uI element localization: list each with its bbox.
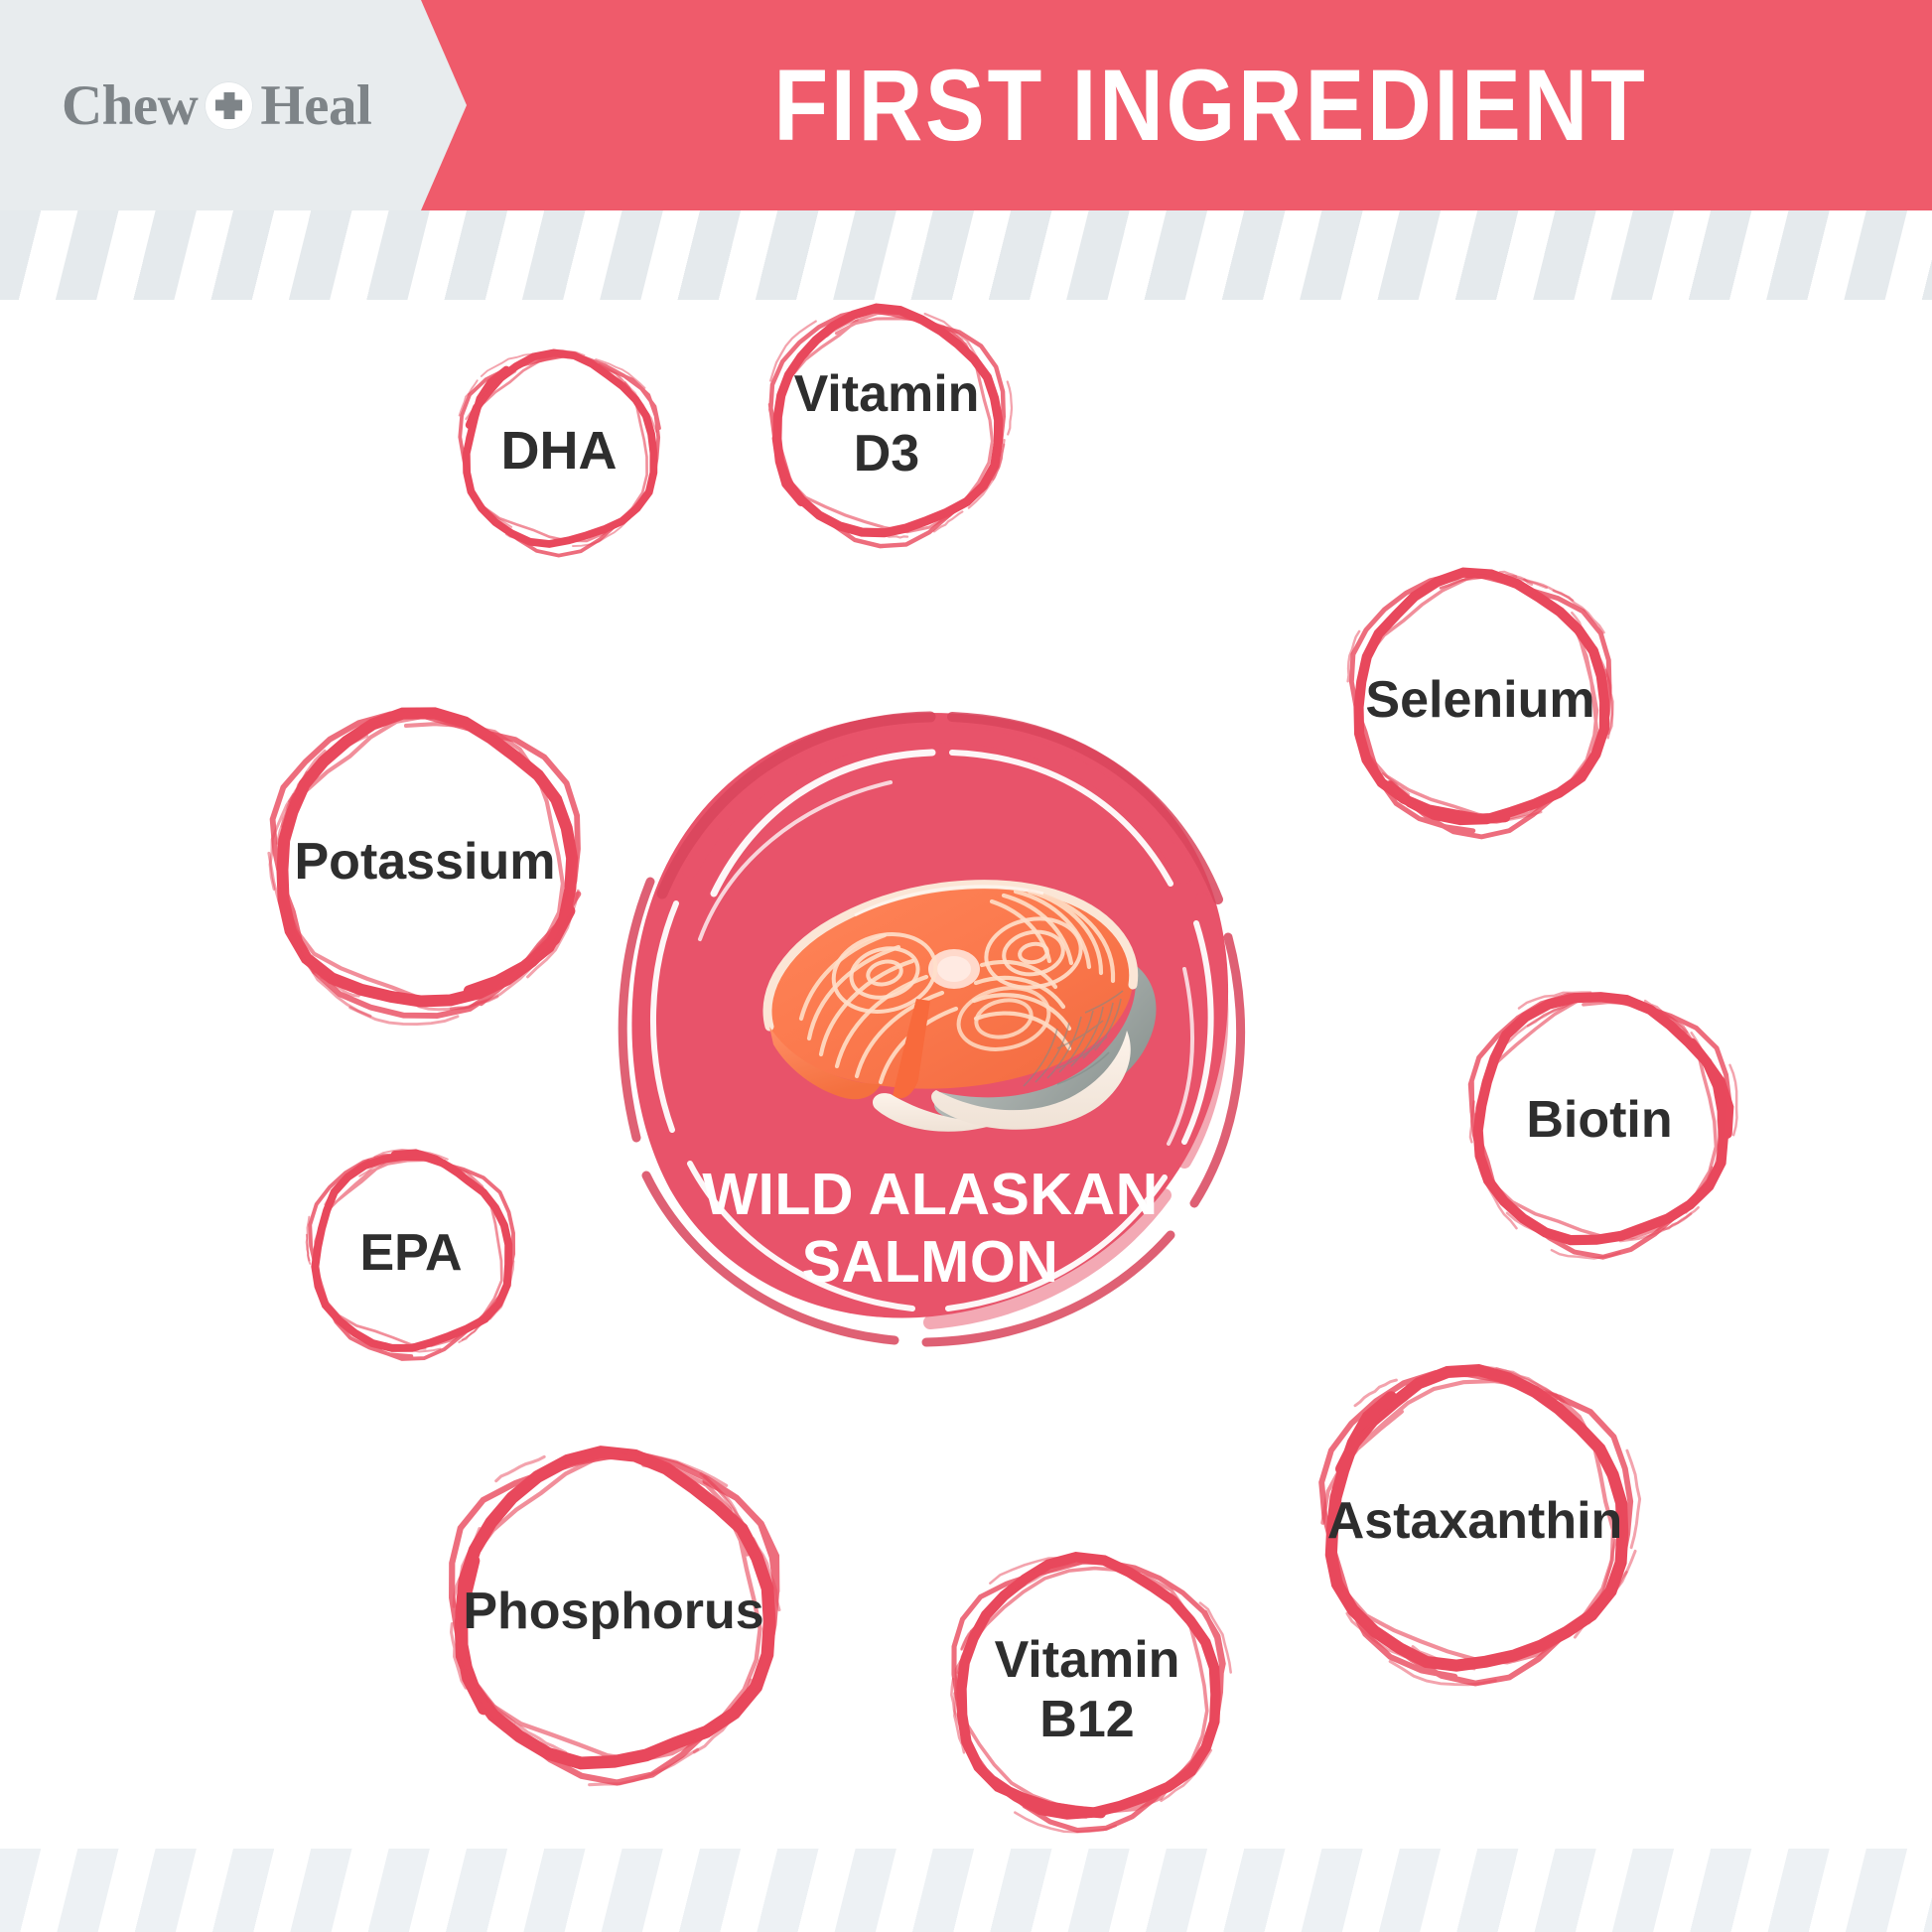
nutrient-bubble-selenium[interactable]: Selenium: [1336, 556, 1624, 844]
nutrient-bubble-label: Potassium: [255, 692, 595, 1032]
nutrient-bubble-label: Astaxanthin: [1304, 1350, 1646, 1693]
nutrient-bubble-label-stack: DHA: [501, 420, 618, 483]
nutrient-bubble-epa[interactable]: EPA: [298, 1140, 524, 1366]
nutrient-bubble-label-stack: Phosphorus: [463, 1582, 763, 1641]
center-label: WILD ALASKAN SALMON: [603, 1162, 1258, 1297]
nutrient-bubble-label-line: Astaxanthin: [1327, 1492, 1623, 1550]
nutrient-bubble-label-line: Selenium: [1365, 671, 1594, 729]
nutrient-bubble-label-stack: EPA: [359, 1223, 462, 1283]
nutrient-bubble-label: VitaminB12: [938, 1541, 1236, 1839]
nutrient-bubble-label: Biotin: [1455, 976, 1743, 1264]
nutrient-bubble-label-line: Vitamin: [995, 1631, 1180, 1689]
page-title: FIRST INGREDIENT: [555, 0, 1845, 210]
nutrient-bubble-label-stack: Biotin: [1526, 1090, 1672, 1150]
logo-word-heal: Heal: [260, 77, 371, 134]
center-label-line2: SALMON: [603, 1229, 1258, 1297]
diagonal-stripes-top: [0, 210, 1932, 300]
nutrient-bubble-label-line: D3: [854, 425, 919, 483]
nutrient-bubble-label-stack: Selenium: [1365, 670, 1594, 730]
center-label-line1: WILD ALASKAN: [702, 1162, 1158, 1227]
header-bar: Chew Heal FIRST INGREDIENT: [0, 0, 1932, 210]
plus-in-circle-icon: [205, 81, 253, 130]
nutrient-bubble-label-line: Phosphorus: [463, 1583, 763, 1640]
nutrient-bubble-phosphorus[interactable]: Phosphorus: [433, 1431, 794, 1792]
nutrient-bubble-label-line: Vitamin: [794, 365, 980, 423]
infographic-canvas: Chew Heal FIRST INGREDIENT: [0, 0, 1932, 1932]
nutrient-bubble-dha[interactable]: DHA: [449, 341, 669, 561]
nutrient-bubble-label-line: Potassium: [295, 833, 556, 891]
nutrient-bubble-label: Selenium: [1336, 556, 1624, 844]
nutrient-bubble-vitamin-b12[interactable]: VitaminB12: [938, 1541, 1236, 1839]
diagonal-stripes-bottom: [0, 1849, 1932, 1932]
nutrient-bubble-astaxanthin[interactable]: Astaxanthin: [1304, 1350, 1646, 1693]
nutrient-bubble-potassium[interactable]: Potassium: [255, 692, 595, 1032]
salmon-steak-photo: [706, 842, 1173, 1140]
nutrient-bubble-label-stack: Astaxanthin: [1327, 1491, 1623, 1551]
nutrient-bubble-biotin[interactable]: Biotin: [1455, 976, 1743, 1264]
nutrient-bubble-label-stack: VitaminD3: [794, 364, 980, 484]
logo-word-chew: Chew: [62, 77, 198, 134]
center-feature: WILD ALASKAN SALMON: [603, 695, 1258, 1350]
nutrient-bubble-label-line: Biotin: [1526, 1091, 1672, 1149]
brand-logo[interactable]: Chew Heal: [62, 72, 389, 138]
nutrient-bubble-label: Phosphorus: [433, 1431, 794, 1792]
nutrient-bubble-label: DHA: [449, 341, 669, 561]
nutrient-bubble-label-line: EPA: [359, 1224, 462, 1282]
nutrient-bubble-label-stack: VitaminB12: [995, 1630, 1180, 1750]
nutrient-bubble-vitamin-d3[interactable]: VitaminD3: [757, 294, 1017, 554]
nutrient-bubble-label: VitaminD3: [757, 294, 1017, 554]
nutrient-bubble-label-line: B12: [1039, 1691, 1134, 1748]
nutrient-bubble-label-line: DHA: [501, 421, 618, 481]
nutrient-bubble-label-stack: Potassium: [295, 832, 556, 892]
nutrient-bubble-label: EPA: [298, 1140, 524, 1366]
